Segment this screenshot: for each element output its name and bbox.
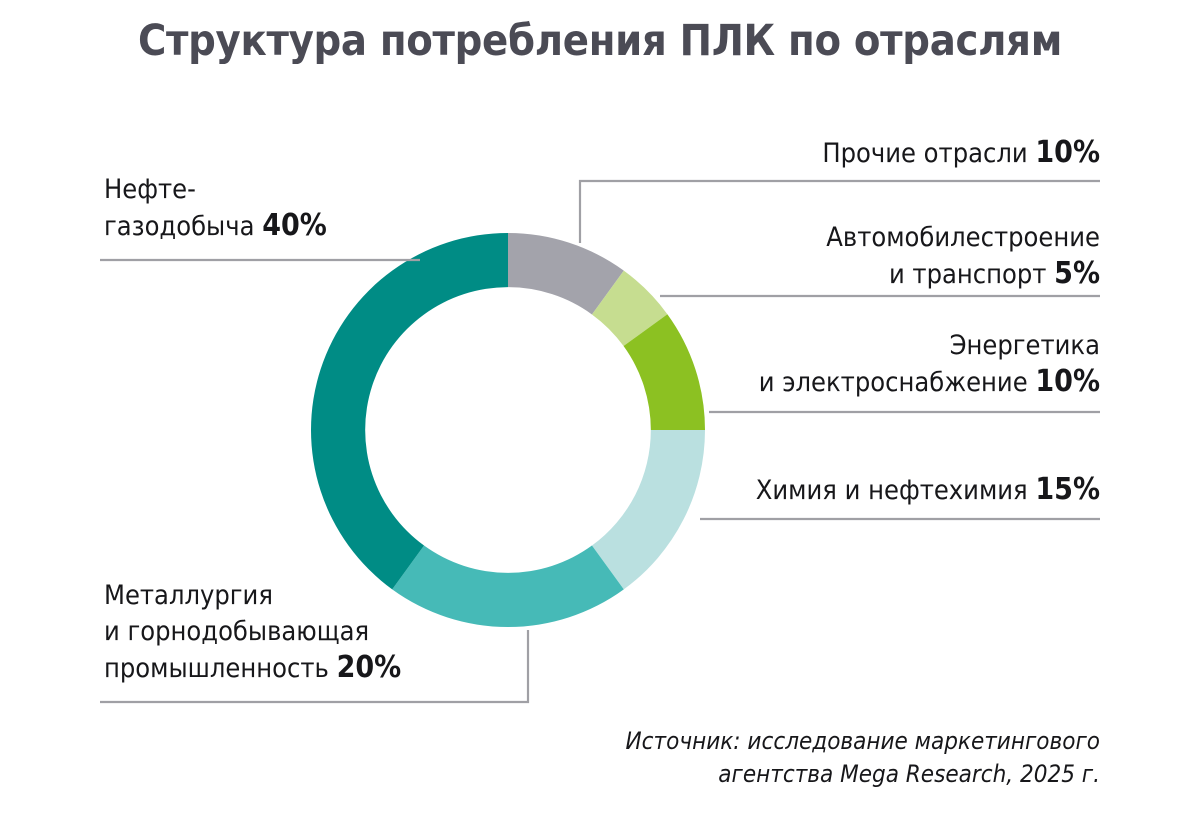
callout-chemistry-line: Химия и нефтехимия 15% [756,472,1100,509]
donut-segments [311,233,705,627]
callout-chemistry-value: 15% [1035,472,1100,507]
callout-automotive-value: 5% [1054,256,1100,291]
callout-automotive: Автомобилестроение и транспорт 5% [826,220,1100,293]
callout-automotive-line1: Автомобилестроение [826,220,1100,256]
callout-oilgas: Нефте- газодобыча 40% [104,172,327,245]
source-note-line-2: агентства Mega Research, 2025 г. [460,758,1100,791]
callout-oilgas-label-1: Нефте- [104,174,196,205]
callout-metallurgy: Металлургия и горнодобывающая промышленн… [104,578,401,687]
callout-other-value: 10% [1035,135,1100,170]
source-note: Источник: исследование маркетингового аг… [460,725,1100,791]
callout-metallurgy-line3: промышленность 20% [104,650,401,687]
callout-energy-label-1: Энергетика [950,330,1100,361]
callout-other-line: Прочие отрасли 10% [822,135,1100,172]
callout-automotive-line2: и транспорт 5% [826,256,1100,293]
callout-oilgas-label-2: газодобыча [104,211,254,242]
callout-metallurgy-value: 20% [337,650,402,685]
callout-chemistry: Химия и нефтехимия 15% [756,472,1100,509]
callout-metallurgy-label-1: Металлургия [104,580,273,611]
callout-energy-line1: Энергетика [759,328,1100,364]
callout-chemistry-label: Химия и нефтехимия [756,475,1028,506]
page-title: Структура потребления ПЛК по отраслям [0,16,1200,66]
donut-segment[interactable] [392,546,624,627]
callout-oilgas-line2: газодобыча 40% [104,208,327,245]
donut-chart [311,233,705,627]
callout-other-label: Прочие отрасли [822,138,1027,169]
donut-segment[interactable] [592,430,705,589]
callout-other: Прочие отрасли 10% [822,135,1100,172]
callout-metallurgy-line2: и горнодобывающая [104,614,401,650]
callout-energy-label-2: и электроснабжение [759,367,1028,398]
callout-metallurgy-line1: Металлургия [104,578,401,614]
callout-energy-line2: и электроснабжение 10% [759,364,1100,401]
callout-oilgas-value: 40% [262,208,327,243]
callout-automotive-label-1: Автомобилестроение [826,222,1100,253]
callout-energy-value: 10% [1035,364,1100,399]
source-note-line-1: Источник: исследование маркетингового [460,725,1100,758]
callout-metallurgy-label-2: и горнодобывающая [104,616,369,647]
callout-energy: Энергетика и электроснабжение 10% [759,328,1100,401]
callout-oilgas-line1: Нефте- [104,172,327,208]
callout-automotive-label-2: и транспорт [889,259,1047,290]
donut-segment[interactable] [311,233,508,589]
donut-svg [311,233,705,627]
callout-metallurgy-label-3: промышленность [104,653,329,684]
